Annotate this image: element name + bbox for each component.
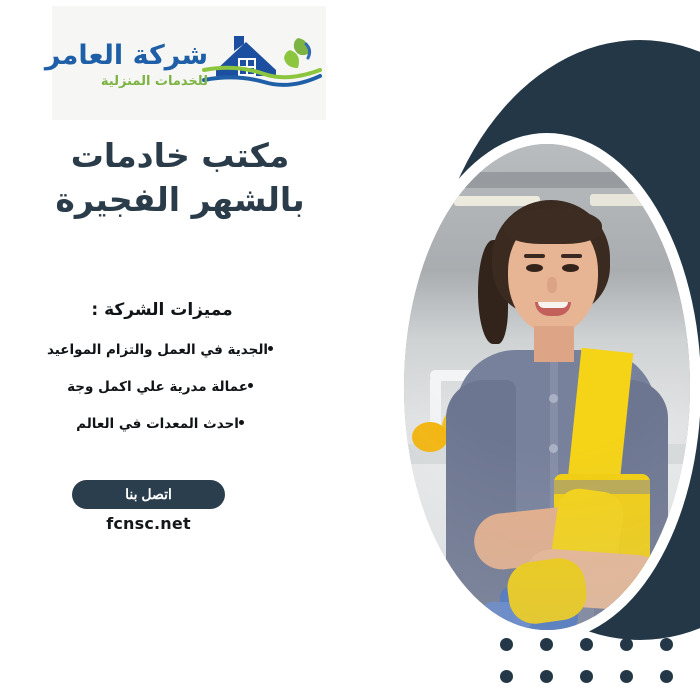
flyer-canvas: شركة العامر للخدمات المنزلية مكتب خادمات… [0, 0, 700, 700]
features-title: مميزات الشركة : [0, 300, 360, 320]
logo-artwork [202, 24, 322, 108]
features-section: مميزات الشركة : الجدية في العمل والتزام … [0, 300, 360, 453]
feature-text: الجدية في العمل والتزام المواعيد [47, 342, 268, 358]
logo-company-name: شركة العامر [45, 40, 208, 71]
bullet-icon [248, 383, 253, 388]
list-item: عمالة مدرية علي اكمل وجة [0, 379, 360, 395]
feature-text: عمالة مدرية علي اكمل وجة [67, 379, 248, 395]
website-url[interactable]: fcnsc.net [72, 514, 225, 533]
dot-grid-decoration [500, 638, 700, 700]
list-item: احدث المعدات في العالم [0, 416, 360, 432]
bullet-icon [239, 420, 244, 425]
headline-line-2: بالشهر الفجيرة [0, 178, 360, 222]
page-title: مكتب خادمات بالشهر الفجيرة [0, 134, 360, 221]
hero-photo [404, 144, 690, 630]
features-list: الجدية في العمل والتزام المواعيد عمالة م… [0, 342, 360, 432]
headline-line-1: مكتب خادمات [0, 134, 360, 178]
company-logo: شركة العامر للخدمات المنزلية [52, 6, 326, 120]
contact-us-button[interactable]: اتصل بنا [72, 480, 225, 509]
bullet-icon [268, 346, 273, 351]
feature-text: احدث المعدات في العالم [76, 416, 239, 432]
logo-tagline: للخدمات المنزلية [101, 74, 208, 89]
leaf-icon [284, 38, 310, 68]
list-item: الجدية في العمل والتزام المواعيد [0, 342, 360, 358]
swoosh-blue [204, 76, 320, 85]
